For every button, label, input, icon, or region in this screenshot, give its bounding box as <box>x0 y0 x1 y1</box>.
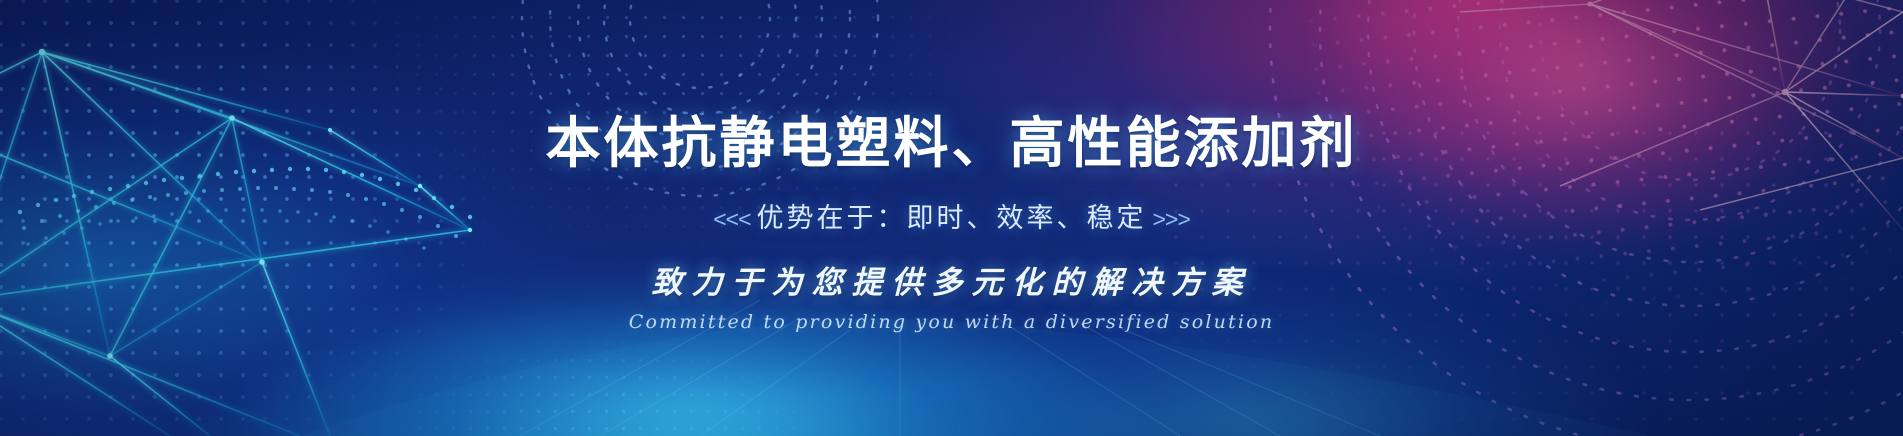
banner-copy: 本体抗静电塑料、高性能添加剂 <<<优势在于：即时、效率、稳定>>> 致力于为您… <box>0 0 1903 333</box>
banner-english-line: Committed to providing you with a divers… <box>0 302 1903 333</box>
banner-title: 本体抗静电塑料、高性能添加剂 <box>0 0 1903 175</box>
hero-banner: 本体抗静电塑料、高性能添加剂 <<<优势在于：即时、效率、稳定>>> 致力于为您… <box>0 0 1903 436</box>
banner-subtitle: <<<优势在于：即时、效率、稳定>>> <box>0 175 1903 235</box>
banner-script-line: 致力于为您提供多元化的解决方案 <box>0 235 1903 302</box>
chevron-right-icon: >>> <box>1147 206 1196 232</box>
chevron-left-icon: <<< <box>707 206 756 232</box>
banner-subtitle-text: 优势在于：即时、效率、稳定 <box>757 203 1147 233</box>
